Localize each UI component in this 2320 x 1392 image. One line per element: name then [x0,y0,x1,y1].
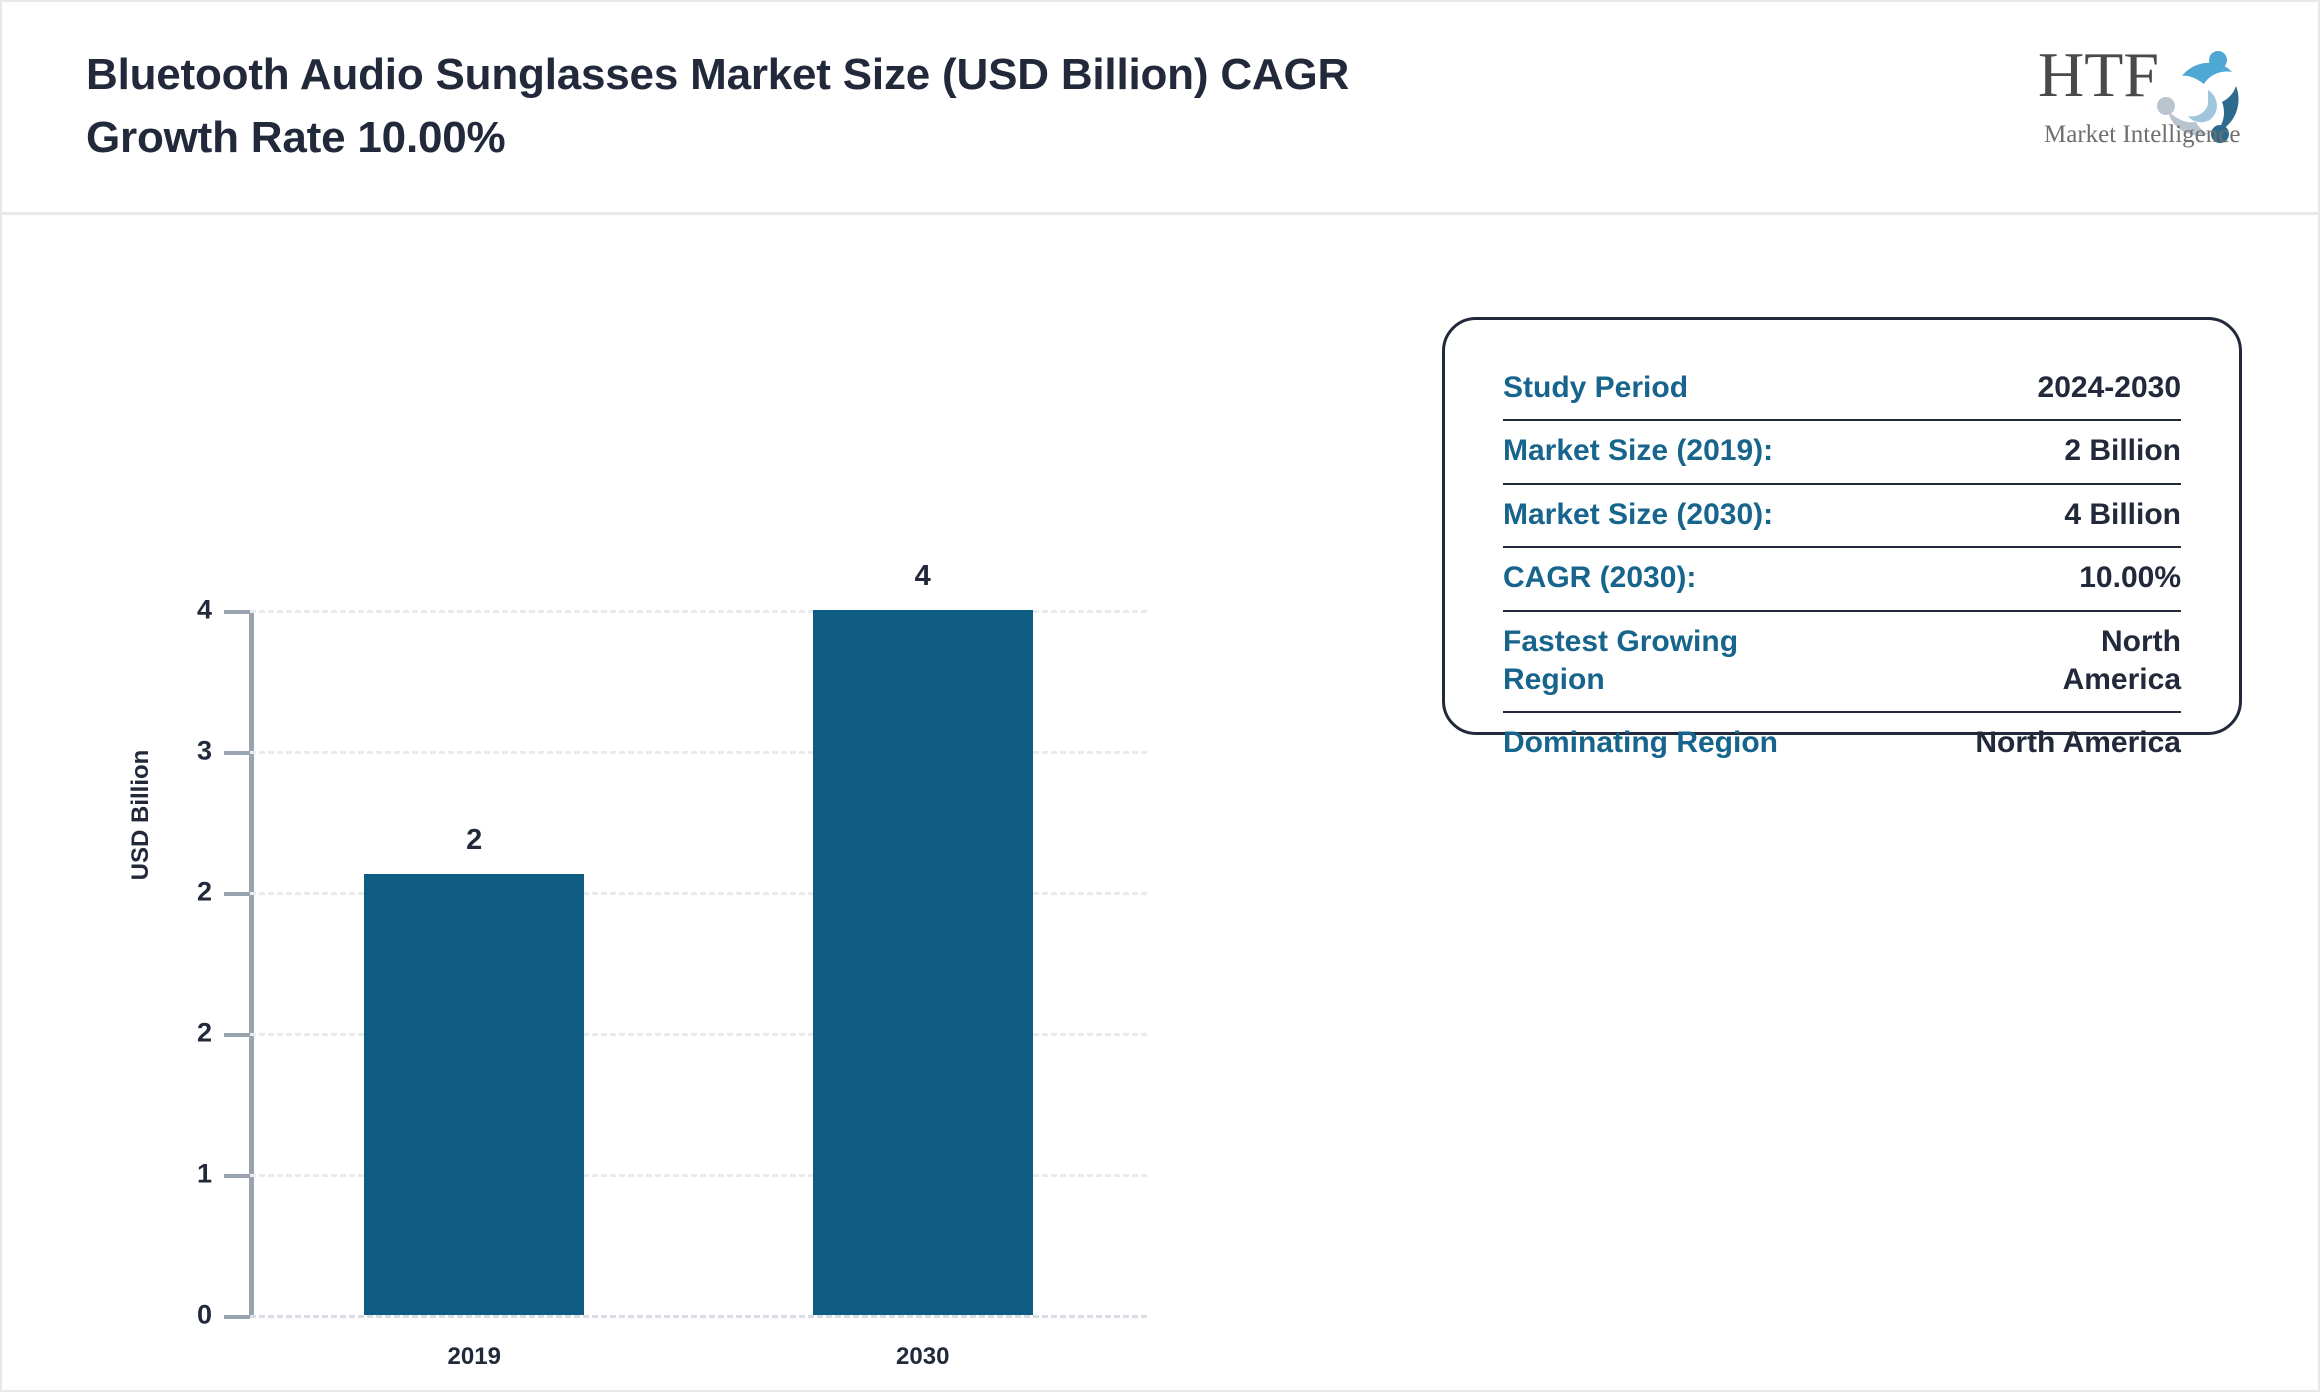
chart-page: Bluetooth Audio Sunglasses Market Size (… [0,0,2320,1392]
bar-chart: USD Billion 012234 24 20192030 [2,215,1402,1391]
summary-row: Study Period2024-2030 [1503,358,2181,421]
svg-text:HTF: HTF [2038,39,2159,110]
summary-row-value: North America [2063,623,2181,700]
bar[interactable] [813,610,1033,1315]
y-tick-label: 0 [197,1300,212,1331]
summary-row-label: Dominating Region [1503,724,1778,762]
logo-graphic: HTF Market Intelligence [2036,34,2246,152]
y-tick-label: 2 [197,1018,212,1049]
gridline [250,1315,1147,1318]
summary-row: Dominating RegionNorth America [1503,713,2181,774]
htf-market-intelligence-logo: HTF Market Intelligence HTF Market Intel… [2036,34,2246,152]
y-axis-title: USD Billion [127,750,155,881]
summary-row: Fastest Growing RegionNorth America [1503,612,2181,714]
summary-row-label: Fastest Growing Region [1503,623,1833,700]
y-tick-label: 4 [197,595,212,626]
summary-row: Market Size (2030):4 Billion [1503,485,2181,548]
summary-row-value: 10.00% [2079,559,2181,597]
market-summary-card: Study Period2024-2030Market Size (2019):… [1442,317,2242,735]
summary-row-value: 4 Billion [2064,496,2181,534]
market-summary-table: Study Period2024-2030Market Size (2019):… [1503,358,2181,775]
y-axis-line [249,610,254,1315]
y-tick-mark [224,892,250,896]
y-tick-label: 1 [197,1159,212,1190]
x-axis-label: 2019 [448,1343,501,1371]
y-tick-mark [224,1315,250,1319]
y-tick-mark [224,1033,250,1037]
summary-row: CAGR (2030):10.00% [1503,548,2181,611]
y-tick-mark [224,1174,250,1178]
y-tick-label: 3 [197,736,212,767]
y-tick-label: 2 [197,877,212,908]
x-axis-label: 2030 [896,1343,949,1371]
y-tick-mark [224,610,250,614]
summary-row-value: North America [1975,724,2181,762]
summary-row-label: CAGR (2030): [1503,559,1696,597]
page-title: Bluetooth Audio Sunglasses Market Size (… [86,44,1416,170]
bar-value-label: 4 [915,560,931,593]
logo-tagline: Market Intelligence [2044,121,2240,148]
summary-row-value: 2024-2030 [2038,369,2181,407]
y-tick-mark [224,751,250,755]
bar[interactable] [364,874,584,1315]
summary-row-label: Market Size (2019): [1503,432,1773,470]
bar-value-label: 2 [466,824,482,857]
summary-row-value: 2 Billion [2064,432,2181,470]
summary-row-label: Study Period [1503,369,1688,407]
summary-row: Market Size (2019):2 Billion [1503,421,2181,484]
page-body: USD Billion 012234 24 20192030 Study Per… [2,215,2318,1391]
summary-row-label: Market Size (2030): [1503,496,1773,534]
plot-area: 012234 24 20192030 [250,610,1147,1315]
page-header: Bluetooth Audio Sunglasses Market Size (… [2,2,2318,215]
